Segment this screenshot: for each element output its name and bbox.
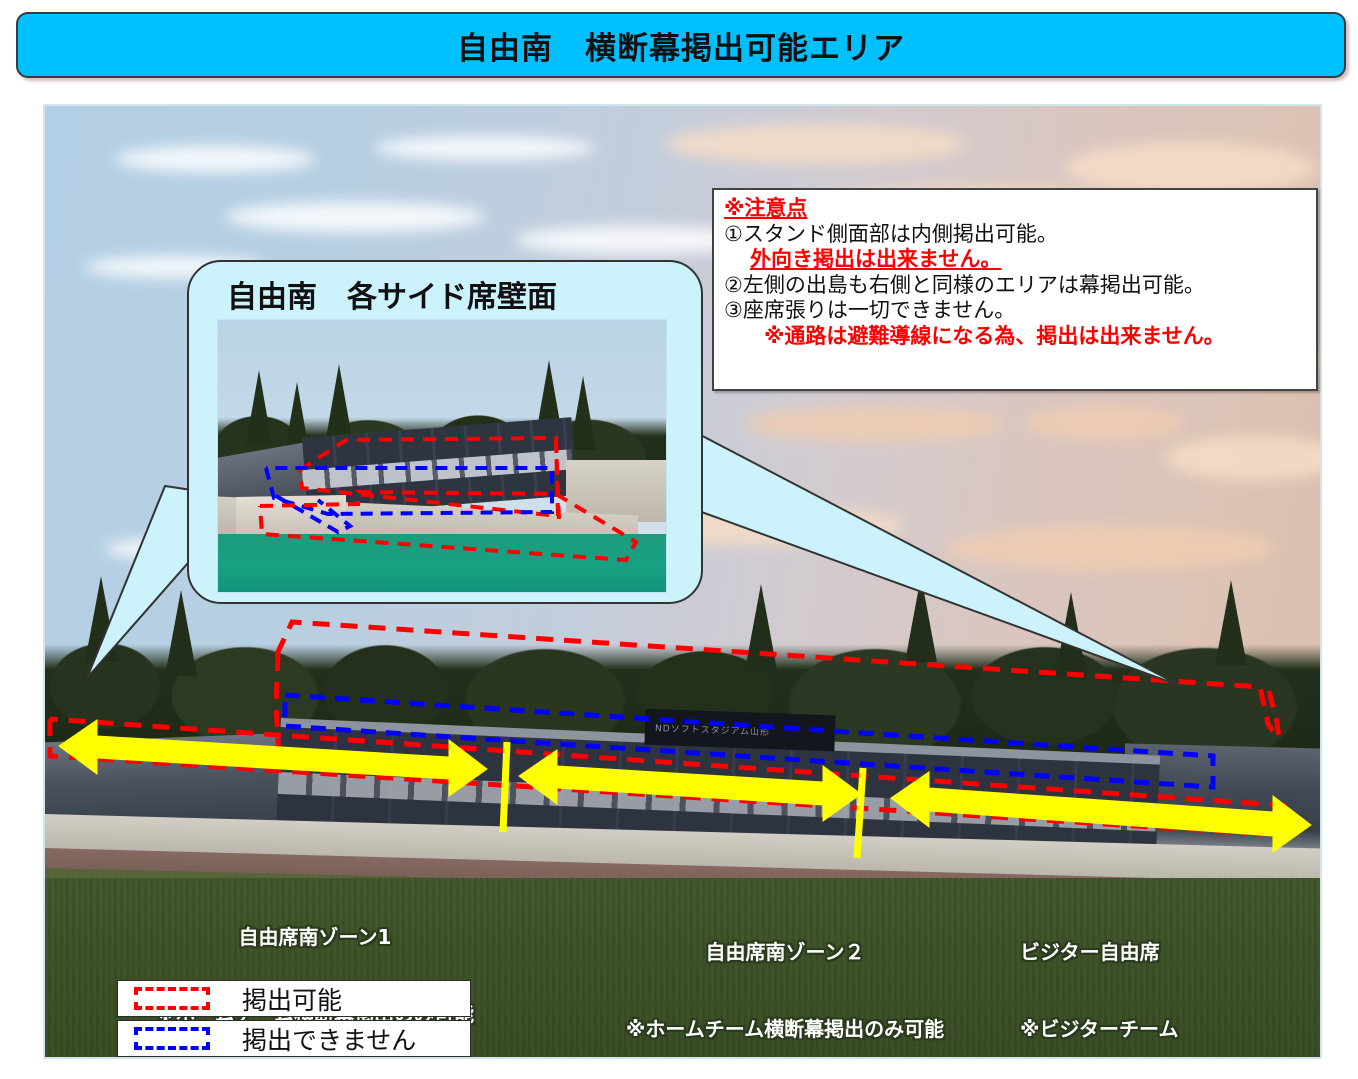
notes-line-1: ①スタンド側面部は内側掲出可能。 (724, 222, 1308, 248)
notes-line-3: ②左側の出島も右側と同様のエリアは幕掲出可能。 (724, 273, 1308, 299)
notes-box: ※注意点 ①スタンド側面部は内側掲出可能。 外向き掲出は出来ません。 ②左側の出… (712, 188, 1318, 391)
page-title-banner: 自由南 横断幕掲出可能エリア (16, 12, 1346, 78)
page-title: 自由南 横断幕掲出可能エリア (457, 23, 905, 68)
callout-tail-right (645, 406, 1181, 686)
notes-line-2: 外向き掲出は出来ません。 (724, 247, 1308, 273)
side-wall-photo (217, 319, 667, 593)
notes-line-5: ※通路は避難導線になる為、掲出は出来ません。 (724, 324, 1308, 350)
notes-line-4: ③座席張りは一切できません。 (724, 298, 1308, 324)
callout-caption: 自由南 各サイド席壁面 (227, 272, 557, 316)
callout-bubble: 自由南 各サイド席壁面 (187, 260, 703, 604)
callout-allowed-lower-wall (260, 492, 636, 560)
callout-annotation-overlay (218, 320, 666, 592)
notes-header: ※注意点 (724, 196, 1308, 222)
